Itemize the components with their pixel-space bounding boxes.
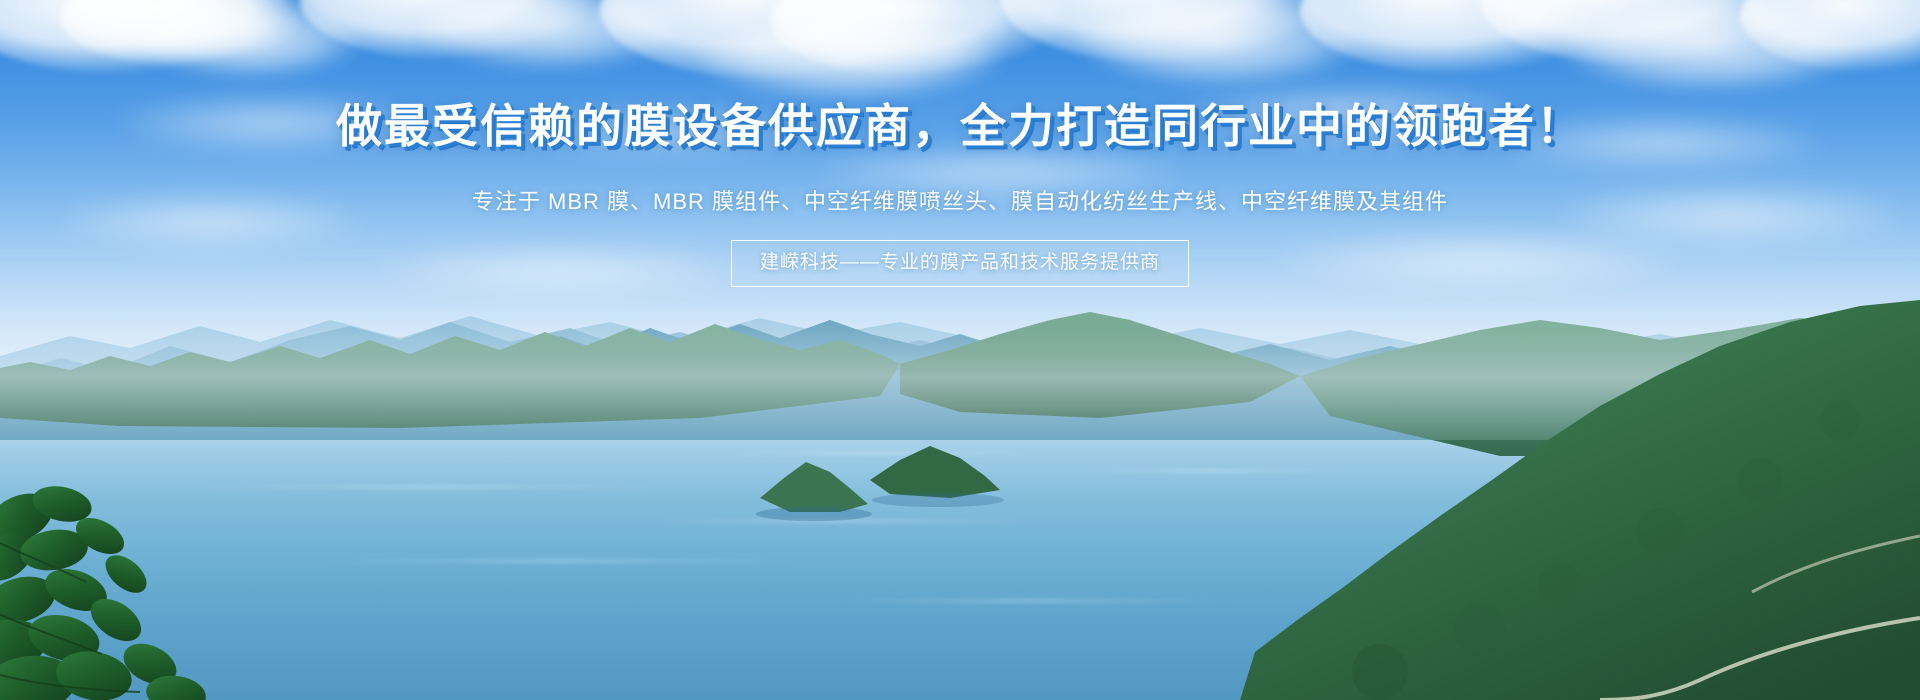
page-title: 做最受信赖的膜设备供应商，全力打造同行业中的领跑者！ bbox=[0, 98, 1920, 154]
lake-water bbox=[0, 392, 1920, 700]
hero-banner: 做最受信赖的膜设备供应商，全力打造同行业中的领跑者！ 专注于 MBR 膜、MBR… bbox=[0, 0, 1920, 700]
company-tagline-box: 建嵘科技——专业的膜产品和技术服务提供商 bbox=[731, 240, 1189, 287]
banner-subtitle: 专注于 MBR 膜、MBR 膜组件、中空纤维膜喷丝头、膜自动化纺丝生产线、中空纤… bbox=[0, 186, 1920, 218]
tagline-container: 建嵘科技——专业的膜产品和技术服务提供商 bbox=[0, 240, 1920, 287]
